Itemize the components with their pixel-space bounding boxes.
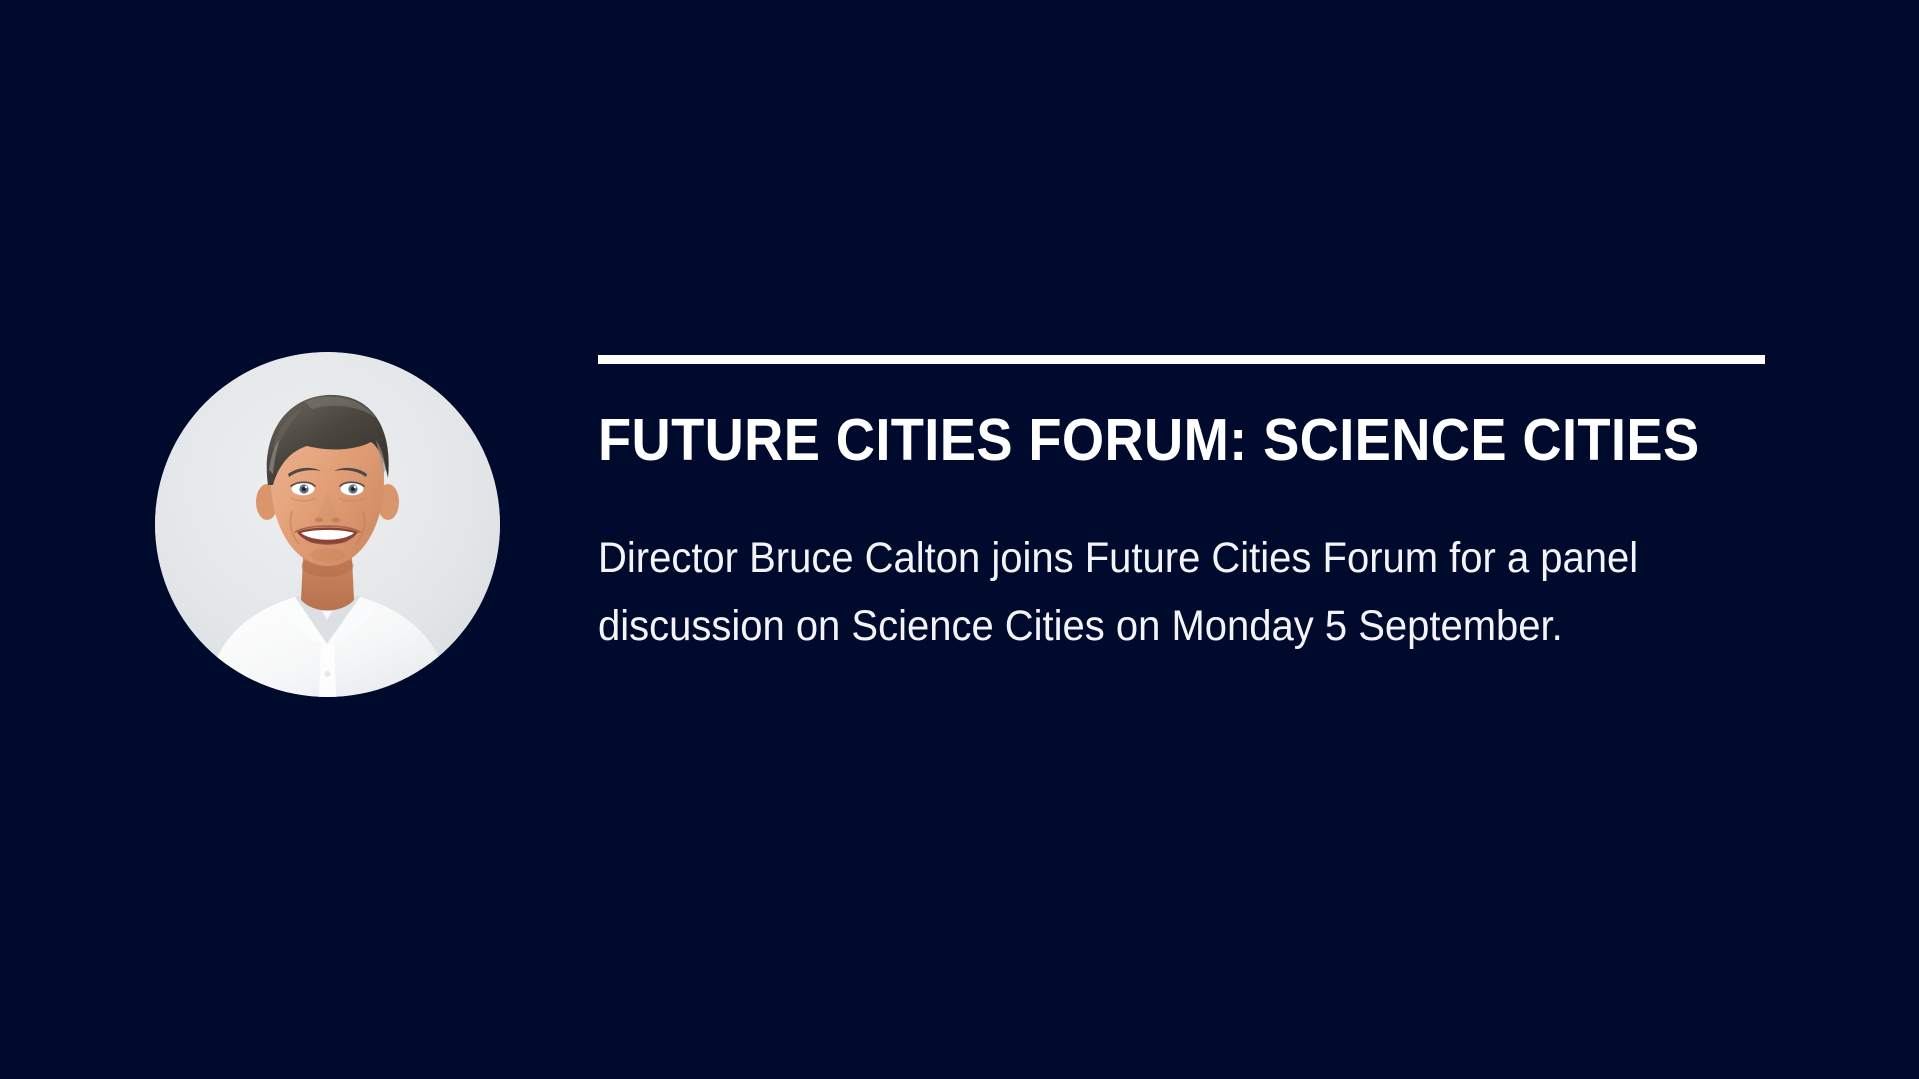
body-text: Director Bruce Calton joins Future Citie…: [598, 524, 1640, 660]
divider-rule: [598, 355, 1765, 364]
promo-card: FUTURE CITIES FORUM: SCIENCE CITIES Dire…: [0, 0, 1919, 1079]
portrait-avatar: [155, 352, 500, 697]
portrait-illustration: [155, 352, 500, 697]
page-title: FUTURE CITIES FORUM: SCIENCE CITIES: [598, 411, 1674, 470]
content-block: FUTURE CITIES FORUM: SCIENCE CITIES Dire…: [598, 352, 1768, 660]
